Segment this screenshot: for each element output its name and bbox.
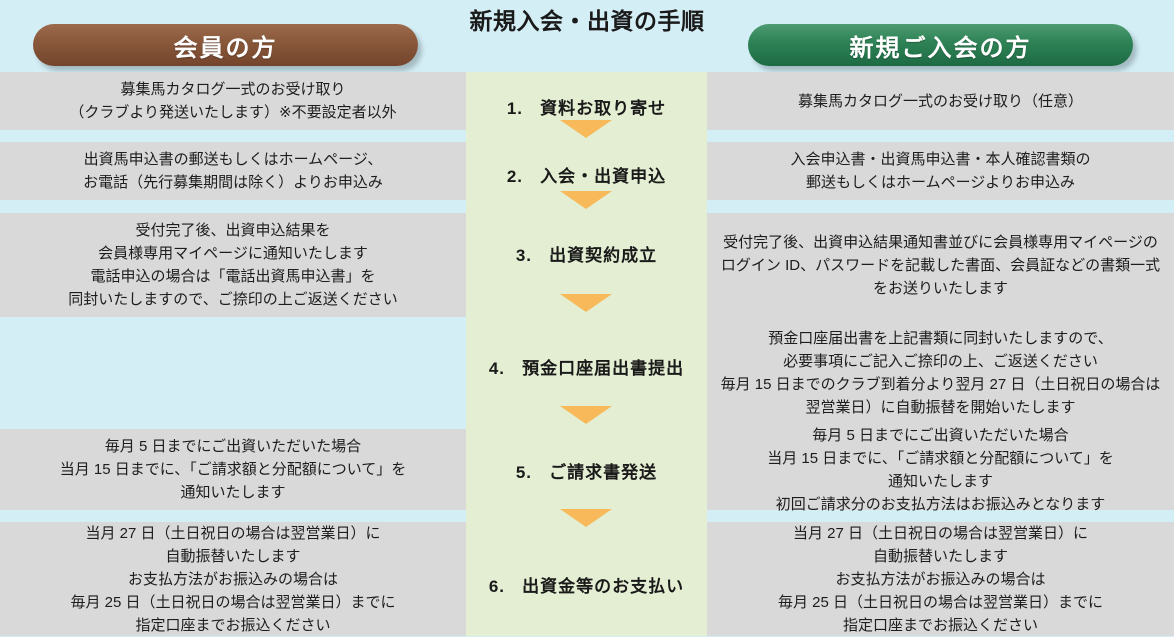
header-band: 新規入会・出資の手順 会員の方 新規ご入会の方: [0, 0, 1174, 72]
arrow-down-icon-3: [560, 294, 612, 312]
member-cell-1: 募集馬カタログ一式のお受け取り （クラブより発送いたします）※不要設定者以外: [0, 72, 466, 130]
step-2-number: 2.: [507, 167, 523, 186]
new-member-cell-1: 募集馬カタログ一式のお受け取り（任意）: [707, 72, 1174, 130]
new-member-cell-2: 入会申込書・出資馬申込書・本人確認書類の 郵送もしくはホームページよりお申込み: [707, 142, 1174, 200]
step-6-label: 出資金等のお支払い: [522, 577, 684, 596]
step-6-number: 6.: [489, 577, 505, 596]
procedure-flow-grid: 募集馬カタログ一式のお受け取り （クラブより発送いたします）※不要設定者以外 出…: [0, 72, 1174, 636]
step-6: 6. 出資金等のお支払い: [466, 572, 707, 597]
new-member-column-header-label: 新規ご入会の方: [850, 28, 1032, 63]
step-3: 3. 出資契約成立: [466, 241, 707, 266]
member-cell-5: 毎月 5 日までにご出資いただいた場合 当月 15 日までに、「ご請求額と分配額…: [0, 429, 466, 510]
step-5-number: 5.: [516, 463, 532, 482]
step-2-label: 入会・出資申込: [540, 167, 666, 186]
step-4: 4. 預金口座届出書提出: [466, 354, 707, 379]
arrow-down-icon-2: [560, 191, 612, 209]
step-1-label: 資料お取り寄せ: [540, 99, 666, 118]
member-column-header-label: 会員の方: [174, 28, 278, 63]
member-cell-3: 受付完了後、出資申込結果を 会員様専用マイページに通知いたします 電話申込の場合…: [0, 213, 466, 317]
new-member-cell-3: 受付完了後、出資申込結果通知書並びに会員様専用マイページのログイン ID、パスワ…: [707, 213, 1174, 317]
step-5-label: ご請求書発送: [549, 463, 657, 482]
new-member-cell-4: 預金口座届出書を上記書類に同封いたしますので、 必要事項にご記入ご捺印の上、ご返…: [707, 317, 1174, 429]
step-4-number: 4.: [489, 359, 505, 378]
steps-column: 1. 資料お取り寄せ 2. 入会・出資申込 3. 出資契約成立 4. 預金口座届…: [466, 72, 707, 636]
step-1-number: 1.: [507, 99, 523, 118]
member-column: 募集馬カタログ一式のお受け取り （クラブより発送いたします）※不要設定者以外 出…: [0, 72, 466, 636]
new-member-cell-5: 毎月 5 日までにご出資いただいた場合 当月 15 日までに、「ご請求額と分配額…: [707, 429, 1174, 510]
arrow-down-icon-1: [560, 120, 612, 138]
member-cell-4-empty: [0, 317, 466, 429]
step-4-label: 預金口座届出書提出: [522, 359, 684, 378]
step-1: 1. 資料お取り寄せ: [466, 94, 707, 119]
step-3-number: 3.: [516, 246, 532, 265]
step-2: 2. 入会・出資申込: [466, 162, 707, 187]
new-member-column: 募集馬カタログ一式のお受け取り（任意） 入会申込書・出資馬申込書・本人確認書類の…: [707, 72, 1174, 636]
member-column-header-pill: 会員の方: [33, 24, 418, 66]
step-5: 5. ご請求書発送: [466, 458, 707, 483]
member-cell-6: 当月 27 日（土日祝日の場合は翌営業日）に 自動振替いたします お支払方法がお…: [0, 522, 466, 636]
member-cell-2: 出資馬申込書の郵送もしくはホームページ、 お電話（先行募集期間は除く）よりお申込…: [0, 142, 466, 200]
new-member-cell-6: 当月 27 日（土日祝日の場合は翌営業日）に 自動振替いたします お支払方法がお…: [707, 522, 1174, 636]
new-member-column-header-pill: 新規ご入会の方: [748, 24, 1133, 66]
arrow-down-icon-5: [560, 509, 612, 527]
step-3-label: 出資契約成立: [549, 246, 657, 265]
arrow-down-icon-4: [560, 406, 612, 424]
